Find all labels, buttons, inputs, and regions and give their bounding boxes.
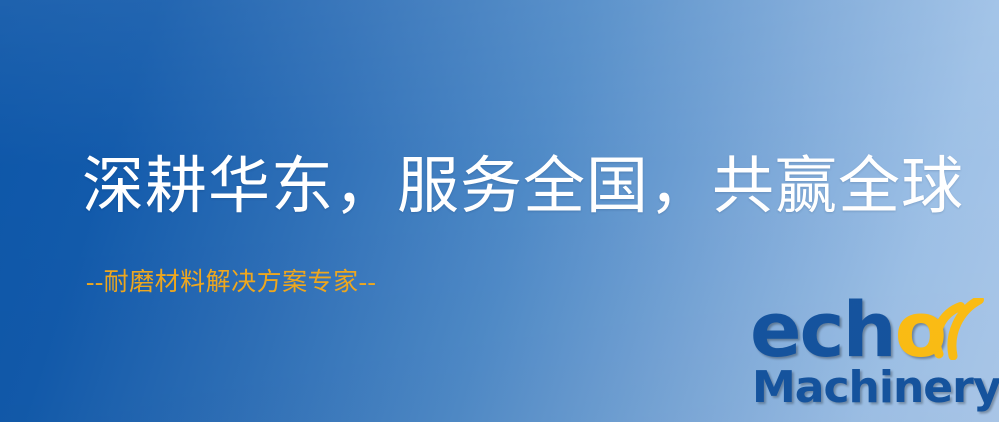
logo-brand-echo: echo [750,292,945,368]
logo-brand-machinery-text: Machinery [752,362,999,413]
signal-waves-icon [933,298,999,360]
banner-subtitle: --耐磨材料解决方案专家-- [86,268,376,298]
hero-banner: 深耕华东，服务全国，共赢全球 --耐磨材料解决方案专家-- echo Machi… [0,0,999,422]
banner-headline: 深耕华东，服务全国，共赢全球 [82,152,964,223]
company-logo[interactable]: echo Machinery® [748,296,999,422]
logo-brand-echo-text: ech [750,285,895,374]
logo-brand-machinery: Machinery® [752,366,999,410]
